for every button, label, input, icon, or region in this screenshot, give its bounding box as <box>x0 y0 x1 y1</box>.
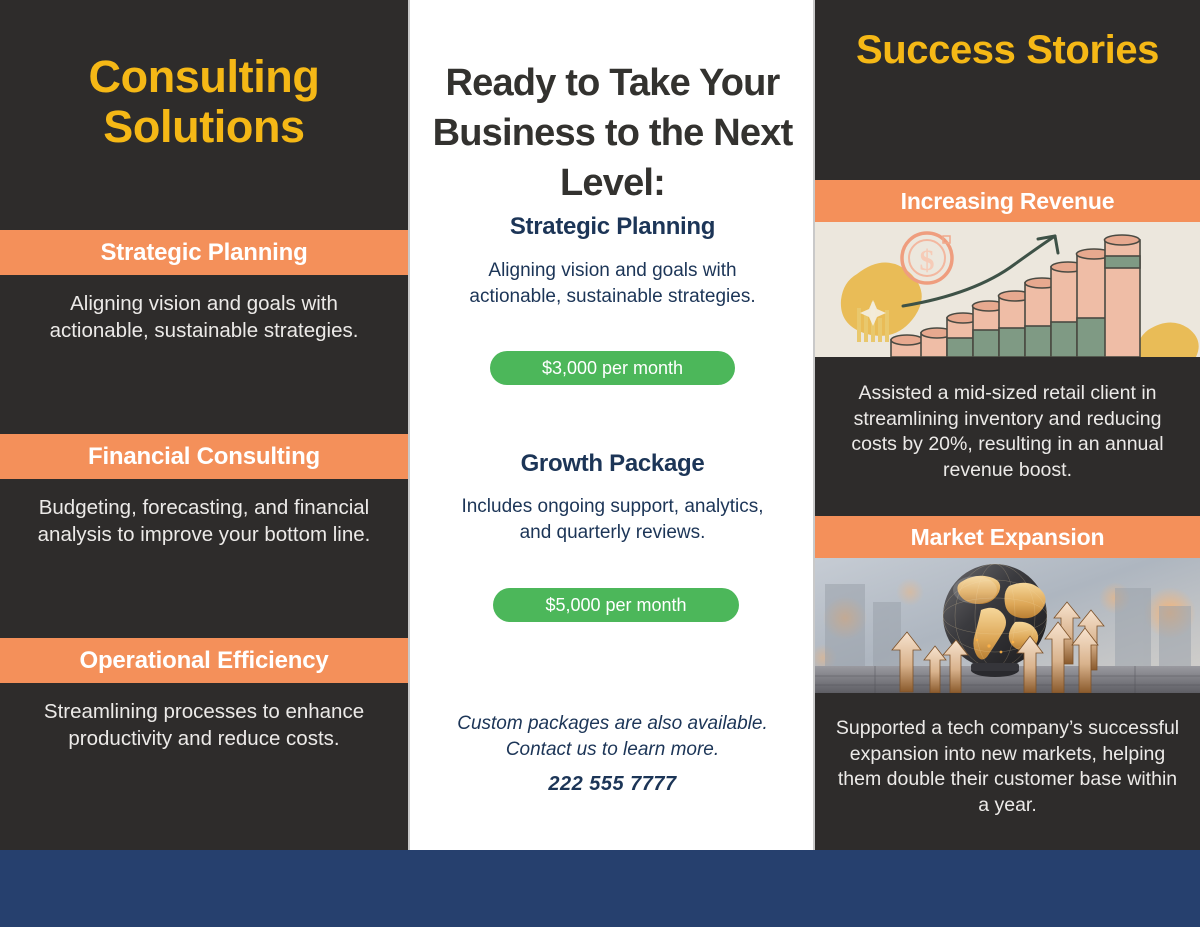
section-header-financial-consulting: Financial Consulting <box>0 434 408 479</box>
left-panel-title: Consulting Solutions <box>0 52 408 153</box>
right-panel-title: Success Stories <box>815 28 1200 73</box>
call-to-action-headline: Ready to Take Your Business to the Next … <box>428 58 797 208</box>
growth-coin-stacks-illustration: $ <box>815 222 1200 357</box>
section-body-financial-consulting: Budgeting, forecasting, and financial an… <box>34 494 374 548</box>
price-badge-strategic-planning[interactable]: $3,000 per month <box>490 351 735 385</box>
package-name-strategic-planning: Strategic Planning <box>428 213 797 241</box>
section-header-operational-efficiency: Operational Efficiency <box>0 638 408 683</box>
story-body-market-expansion: Supported a tech company’s successful ex… <box>835 716 1180 819</box>
package-description-strategic-planning: Aligning vision and goals with actionabl… <box>450 258 775 310</box>
brochure-page: Consulting Solutions Strategic Planning … <box>0 0 1200 927</box>
right-panel: Success Stories Increasing Revenue <box>815 0 1200 850</box>
section-body-operational-efficiency: Streamlining processes to enhance produc… <box>34 698 374 752</box>
middle-panel: Strategic Planning Ready to Take Your Bu… <box>409 0 814 850</box>
coin-growth-chart-icon: $ <box>815 222 1200 357</box>
section-header-strategic-planning: Strategic Planning <box>0 230 408 275</box>
price-badge-growth-package[interactable]: $5,000 per month <box>493 588 739 622</box>
globe-growth-arrows-icon <box>815 558 1200 693</box>
footer-band <box>0 850 1200 927</box>
package-description-growth-package: Includes ongoing support, analytics, and… <box>450 494 775 546</box>
story-header-increasing-revenue: Increasing Revenue <box>815 180 1200 222</box>
svg-text:$: $ <box>920 244 935 277</box>
package-name-growth-package: Growth Package <box>428 450 797 478</box>
left-panel: Consulting Solutions Strategic Planning … <box>0 0 408 850</box>
story-body-increasing-revenue: Assisted a mid-sized retail client in st… <box>835 381 1180 484</box>
section-body-strategic-planning: Aligning vision and goals with actionabl… <box>34 290 374 344</box>
globe-with-rising-arrows-photo <box>815 558 1200 693</box>
column-divider-right <box>814 0 815 850</box>
column-divider-left <box>408 0 409 850</box>
story-header-market-expansion: Market Expansion <box>815 516 1200 558</box>
contact-phone-number[interactable]: 222 555 7777 <box>435 773 790 796</box>
custom-packages-note: Custom packages are also available. Cont… <box>435 711 790 763</box>
